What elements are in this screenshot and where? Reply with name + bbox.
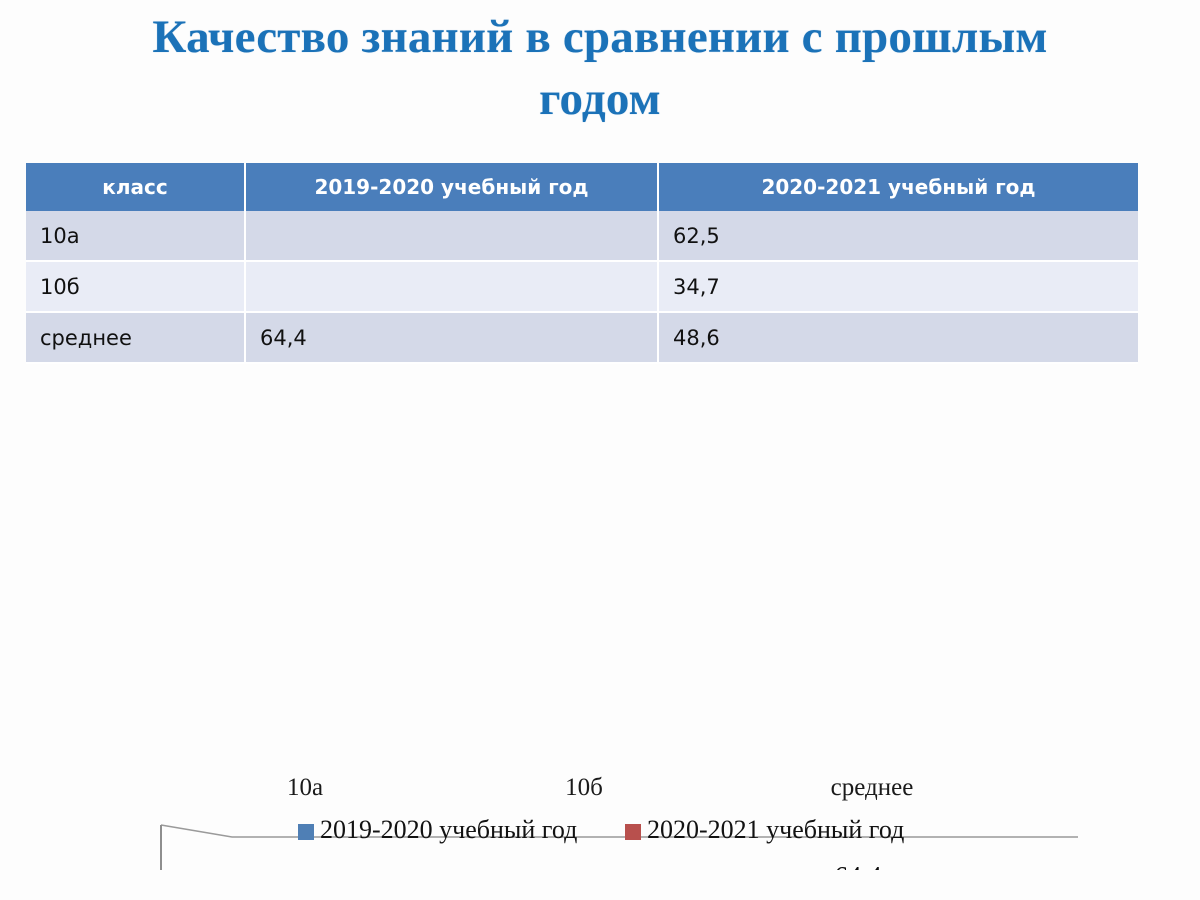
chart-x-axis-labels: 10а 10б среднее — [287, 774, 913, 801]
table-row: среднее 64,4 48,6 — [26, 312, 1138, 363]
chart-legend: 2019-2020 учебный год 2020-2021 учебный … — [298, 815, 904, 844]
table-cell-2020-2021: 48,6 — [658, 312, 1138, 363]
bar-value-label: 62,5 — [351, 868, 398, 870]
legend-swatch-2020-2021 — [625, 824, 641, 840]
table-cell-2020-2021: 62,5 — [658, 211, 1138, 261]
chart-canvas: 70 60 50 40 30 20 10 0 62,5 34,7 — [0, 400, 1200, 870]
bar-value-label: 64,4 — [834, 861, 882, 870]
table-cell-2019-2020 — [245, 211, 658, 261]
legend-label-2020-2021: 2020-2021 учебный год — [647, 815, 904, 844]
category-label-average: среднее — [831, 774, 914, 801]
table-header-class: класс — [26, 163, 245, 211]
chart-y-axis — [152, 825, 161, 870]
table-cell-class: среднее — [26, 312, 245, 363]
category-label-10b: 10б — [565, 774, 603, 801]
table-row: 10б 34,7 — [26, 261, 1138, 312]
table-cell-2019-2020: 64,4 — [245, 312, 658, 363]
bar-chart: 70 60 50 40 30 20 10 0 62,5 34,7 — [0, 400, 1200, 870]
table-cell-class: 10а — [26, 211, 245, 261]
legend-label-2019-2020: 2019-2020 учебный год — [320, 815, 577, 844]
comparison-table: класс 2019-2020 учебный год 2020-2021 уч… — [26, 163, 1138, 364]
table-cell-2020-2021: 34,7 — [658, 261, 1138, 312]
table-header-row: класс 2019-2020 учебный год 2020-2021 уч… — [26, 163, 1138, 211]
table-header-year-2019-2020: 2019-2020 учебный год — [245, 163, 658, 211]
table-cell-class: 10б — [26, 261, 245, 312]
table-cell-2019-2020 — [245, 261, 658, 312]
legend-swatch-2019-2020 — [298, 824, 314, 840]
table-header-year-2020-2021: 2020-2021 учебный год — [658, 163, 1138, 211]
table-row: 10а 62,5 — [26, 211, 1138, 261]
page-title: Качество знаний в сравнении с прошлым го… — [120, 6, 1080, 130]
category-label-10a: 10а — [287, 774, 323, 801]
